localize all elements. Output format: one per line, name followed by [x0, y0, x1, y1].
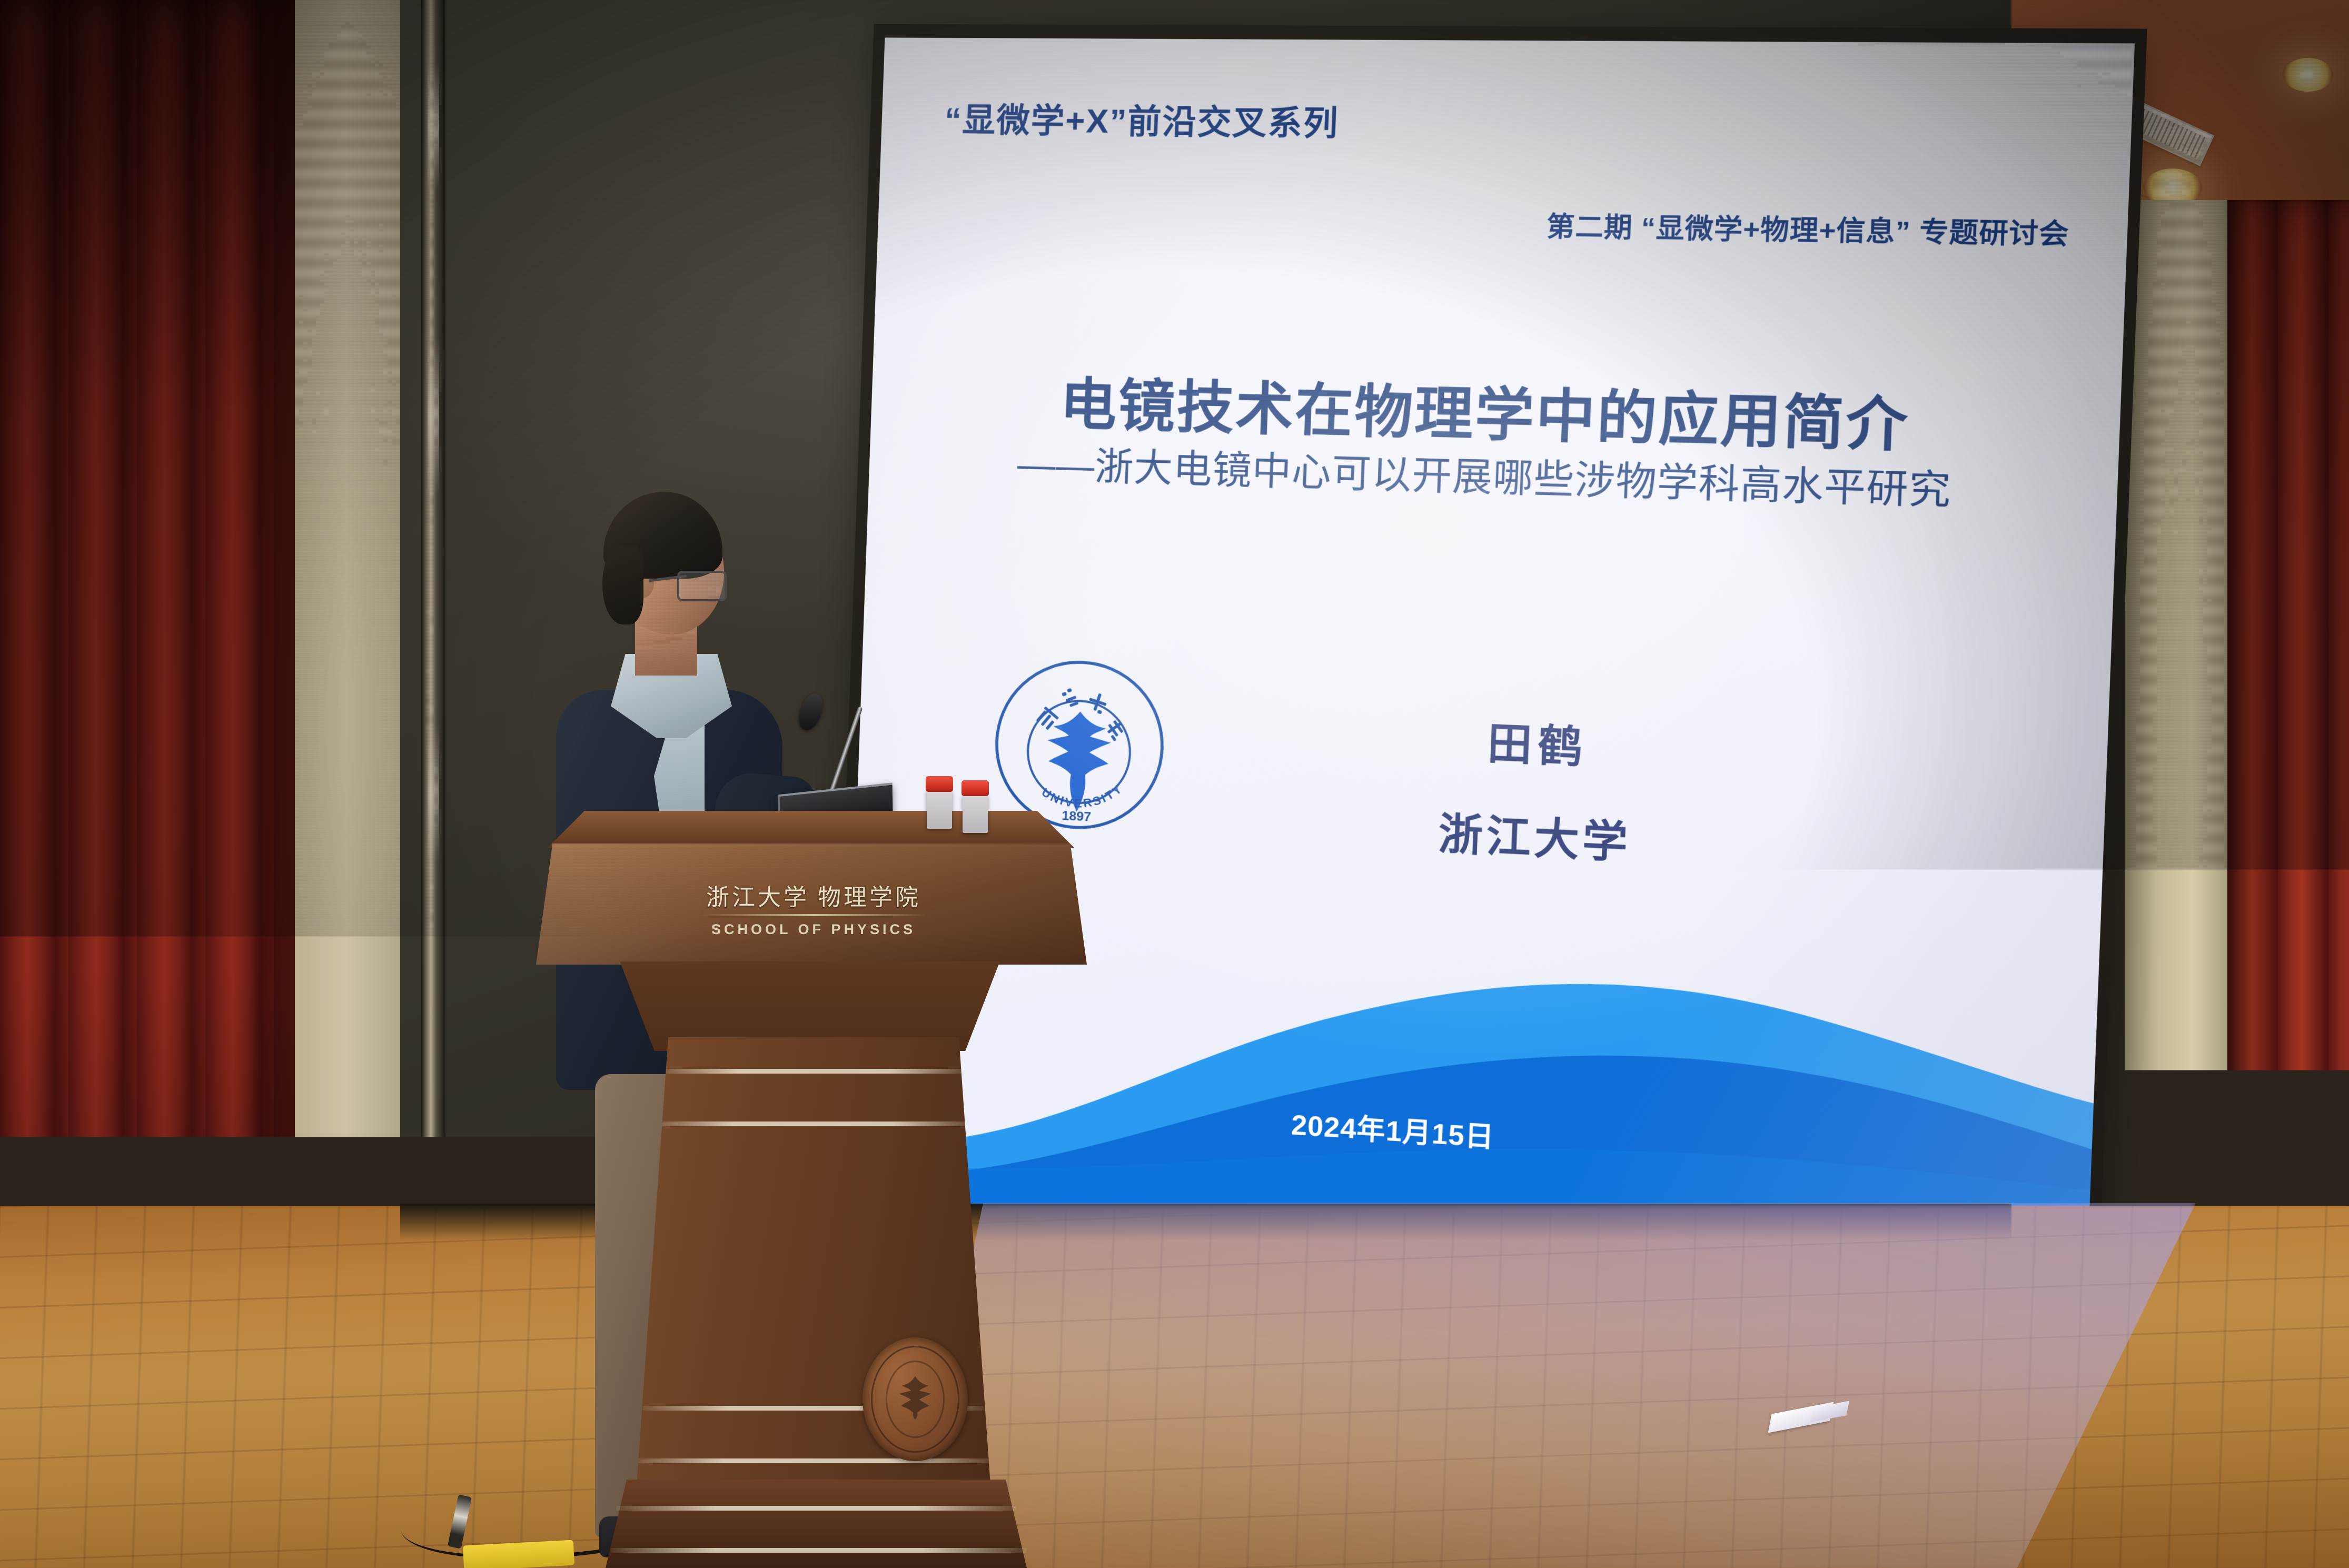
- wall-trim-highlight: [428, 727, 439, 864]
- podium-emblem: [863, 1337, 968, 1461]
- podium-sign-chinese: 浙江大学 物理学院: [527, 878, 1101, 912]
- zju-logo: 1897 UNIVERSITY: [988, 654, 1171, 837]
- slide-session-label: 第二期 “显微学+物理+信息” 专题研讨会: [1546, 205, 2070, 252]
- water-bottle-left[interactable]: [927, 790, 952, 829]
- podium-sign-divider: [700, 914, 927, 916]
- presenter-hair-side: [602, 545, 643, 624]
- wall-trim-highlight: [428, 63, 439, 190]
- water-bottle-right[interactable]: [963, 794, 988, 833]
- wall-trim-metal: [421, 0, 445, 1274]
- bottle-cap: [962, 780, 989, 796]
- presenter-glasses: [649, 571, 727, 597]
- ceiling-downlight: [2283, 58, 2333, 92]
- podium-inlay-stripe: [653, 1122, 973, 1126]
- podium-sign-english: SCHOOL OF PHYSICS: [527, 921, 1101, 938]
- podium-base-stripe: [611, 1548, 1027, 1553]
- podium: 浙江大学 物理学院 SCHOOL OF PHYSICS: [527, 811, 1101, 1568]
- curtain-right: [2227, 200, 2349, 1227]
- slide-speaker-affiliation: 浙江大学: [1438, 799, 1632, 871]
- podium-top-surface: [548, 811, 1074, 848]
- podium-column: [632, 1037, 995, 1501]
- slide-series-label: “显微学+X”前沿交叉系列: [944, 93, 1340, 145]
- podium-emblem-bird-icon: [890, 1369, 940, 1420]
- curtain-left-shading: [0, 0, 295, 1380]
- podium-base: [606, 1480, 1027, 1568]
- lecture-hall-photo: 1897 UNIVERSITY “显微学+X”前沿交叉系列 第二期 “显微学+物…: [0, 0, 2349, 1568]
- slide-speaker-name: 田鹤: [1486, 708, 1590, 776]
- podium-inlay-stripe: [636, 1458, 992, 1463]
- wall-trim-highlight: [428, 337, 439, 495]
- podium-base-stripe: [616, 1506, 1016, 1511]
- column-right: [2125, 200, 2238, 1248]
- podium-inlay-stripe: [661, 1069, 966, 1074]
- bottle-cap: [926, 776, 953, 792]
